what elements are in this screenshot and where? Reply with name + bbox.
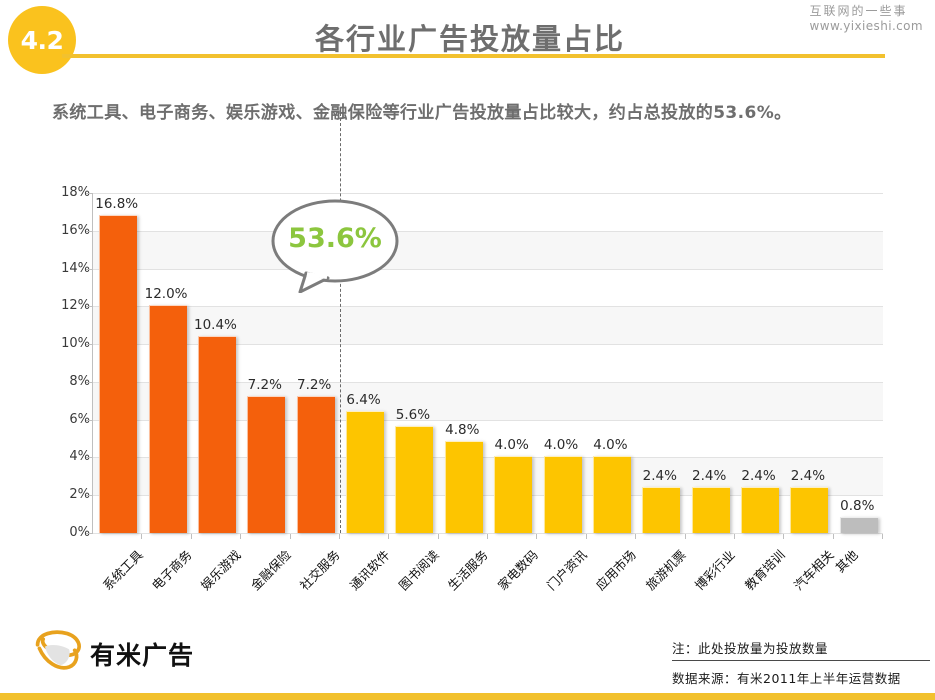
x-tick-label: 博彩行业 — [690, 545, 739, 594]
slide-header: 4.2 各行业广告投放量占比 互联网的一些事 www.yixieshi.com — [0, 0, 935, 78]
x-tick-mark — [388, 534, 389, 539]
group-divider-line — [340, 113, 341, 533]
bar[interactable] — [247, 396, 285, 533]
y-tick-mark — [86, 495, 92, 496]
x-tick-label: 教育培训 — [739, 545, 788, 594]
watermark-url: www.yixieshi.com — [810, 19, 923, 34]
x-tick-mark — [783, 534, 784, 539]
x-tick-mark — [536, 534, 537, 539]
x-tick-label: 金融保险 — [245, 545, 294, 594]
bar-value-label: 6.4% — [346, 392, 380, 408]
x-tick-label: 图书阅读 — [394, 545, 443, 594]
y-tick-mark — [86, 193, 92, 194]
x-tick-label: 门户资讯 — [542, 545, 591, 594]
plot-band — [93, 231, 883, 269]
y-tick-label: 8% — [32, 374, 90, 389]
x-tick-label: 娱乐游戏 — [196, 545, 245, 594]
x-tick-mark — [685, 534, 686, 539]
y-tick-mark — [86, 344, 92, 345]
footnote-note: 注：此处投放量为投放数量 — [672, 638, 828, 657]
bar[interactable] — [544, 456, 582, 533]
y-tick-mark — [86, 457, 92, 458]
bar[interactable] — [149, 305, 187, 533]
bar[interactable] — [99, 215, 137, 533]
y-tick-mark — [86, 231, 92, 232]
footnote-source: 数据来源：有米2011年上半年运营数据 — [672, 668, 901, 687]
x-tick-mark — [635, 534, 636, 539]
bar[interactable] — [790, 487, 828, 533]
x-tick-mark — [734, 534, 735, 539]
x-tick-label: 电子商务 — [147, 545, 196, 594]
bar[interactable] — [445, 441, 483, 533]
bar-value-label: 16.8% — [95, 196, 138, 212]
bar[interactable] — [692, 487, 730, 533]
youmi-bowl-icon — [30, 628, 86, 680]
footnote-divider — [672, 660, 930, 661]
y-tick-label: 12% — [32, 298, 90, 313]
x-tick-label: 应用市场 — [591, 545, 640, 594]
x-tick-mark — [240, 534, 241, 539]
bar[interactable] — [593, 456, 631, 533]
bar-value-label: 5.6% — [396, 407, 430, 423]
page-title: 各行业广告投放量占比 — [70, 16, 870, 58]
bar[interactable] — [346, 411, 384, 533]
y-tick-mark — [86, 533, 92, 534]
y-tick-label: 6% — [32, 412, 90, 427]
brand-logo: 有米广告 — [30, 628, 194, 680]
x-tick-label: 其他 — [831, 545, 862, 576]
bar-value-label: 2.4% — [741, 468, 775, 484]
bar-value-label: 2.4% — [643, 468, 677, 484]
y-tick-label: 4% — [32, 449, 90, 464]
y-tick-mark — [86, 420, 92, 421]
gridline — [93, 269, 883, 270]
bar-value-label: 2.4% — [791, 468, 825, 484]
y-tick-label: 16% — [32, 223, 90, 238]
y-tick-label: 18% — [32, 185, 90, 200]
bar-value-label: 4.0% — [544, 437, 578, 453]
bar[interactable] — [741, 487, 779, 533]
callout-bubble: 53.6% — [270, 197, 400, 293]
x-tick-label: 汽车相关 — [789, 545, 838, 594]
y-tick-label: 0% — [32, 525, 90, 540]
bar-value-label: 4.0% — [593, 437, 627, 453]
watermark-site-name: 互联网的一些事 — [810, 4, 923, 19]
gridline — [93, 231, 883, 232]
bottom-accent-bar — [0, 693, 935, 700]
x-tick-mark — [833, 534, 834, 539]
bar-value-label: 2.4% — [692, 468, 726, 484]
x-tick-label: 旅游机票 — [640, 545, 689, 594]
slide-footer: 有米广告 注：此处投放量为投放数量 数据来源：有米2011年上半年运营数据 — [0, 620, 935, 700]
bar[interactable] — [297, 396, 335, 533]
bar[interactable] — [494, 456, 532, 533]
x-tick-mark — [586, 534, 587, 539]
bar-value-label: 4.0% — [495, 437, 529, 453]
bar-value-label: 10.4% — [194, 317, 237, 333]
title-underline-rule — [62, 54, 885, 58]
bar-value-label: 4.8% — [445, 422, 479, 438]
y-tick-label: 14% — [32, 261, 90, 276]
x-tick-label: 系统工具 — [97, 545, 146, 594]
gridline — [93, 306, 883, 307]
bar[interactable] — [395, 426, 433, 533]
section-number-label: 4.2 — [21, 26, 64, 55]
summary-text: 系统工具、电子商务、娱乐游戏、金融保险等行业广告投放量占比较大，约占总投放的53… — [52, 100, 872, 126]
bar-value-label: 0.8% — [840, 498, 874, 514]
y-tick-mark — [86, 306, 92, 307]
x-tick-mark — [339, 534, 340, 539]
bar-value-label: 7.2% — [297, 377, 331, 393]
y-tick-mark — [86, 269, 92, 270]
x-tick-mark — [882, 534, 883, 539]
y-tick-label: 10% — [32, 336, 90, 351]
bar[interactable] — [840, 517, 878, 533]
brand-name: 有米广告 — [90, 636, 194, 672]
x-tick-label: 家电数码 — [492, 545, 541, 594]
bar-value-label: 12.0% — [145, 286, 188, 302]
watermark: 互联网的一些事 www.yixieshi.com — [810, 4, 923, 34]
x-tick-label: 生活服务 — [443, 545, 492, 594]
x-tick-mark — [191, 534, 192, 539]
x-tick-label: 通讯软件 — [344, 545, 393, 594]
gridline — [93, 193, 883, 194]
x-tick-mark — [141, 534, 142, 539]
y-tick-mark — [86, 382, 92, 383]
bar[interactable] — [198, 336, 236, 533]
bar-value-label: 7.2% — [248, 377, 282, 393]
gridline — [93, 533, 883, 534]
x-tick-label: 社交服务 — [295, 545, 344, 594]
callout-value: 53.6% — [270, 223, 400, 254]
y-tick-label: 2% — [32, 487, 90, 502]
bar[interactable] — [642, 487, 680, 533]
bar-chart: 18%16%14%12%10%8%6%4%2%0% 系统工具电子商务娱乐游戏金融… — [0, 185, 935, 615]
x-tick-mark — [438, 534, 439, 539]
x-tick-mark — [290, 534, 291, 539]
x-tick-mark — [487, 534, 488, 539]
section-number-badge: 4.2 — [8, 6, 76, 74]
